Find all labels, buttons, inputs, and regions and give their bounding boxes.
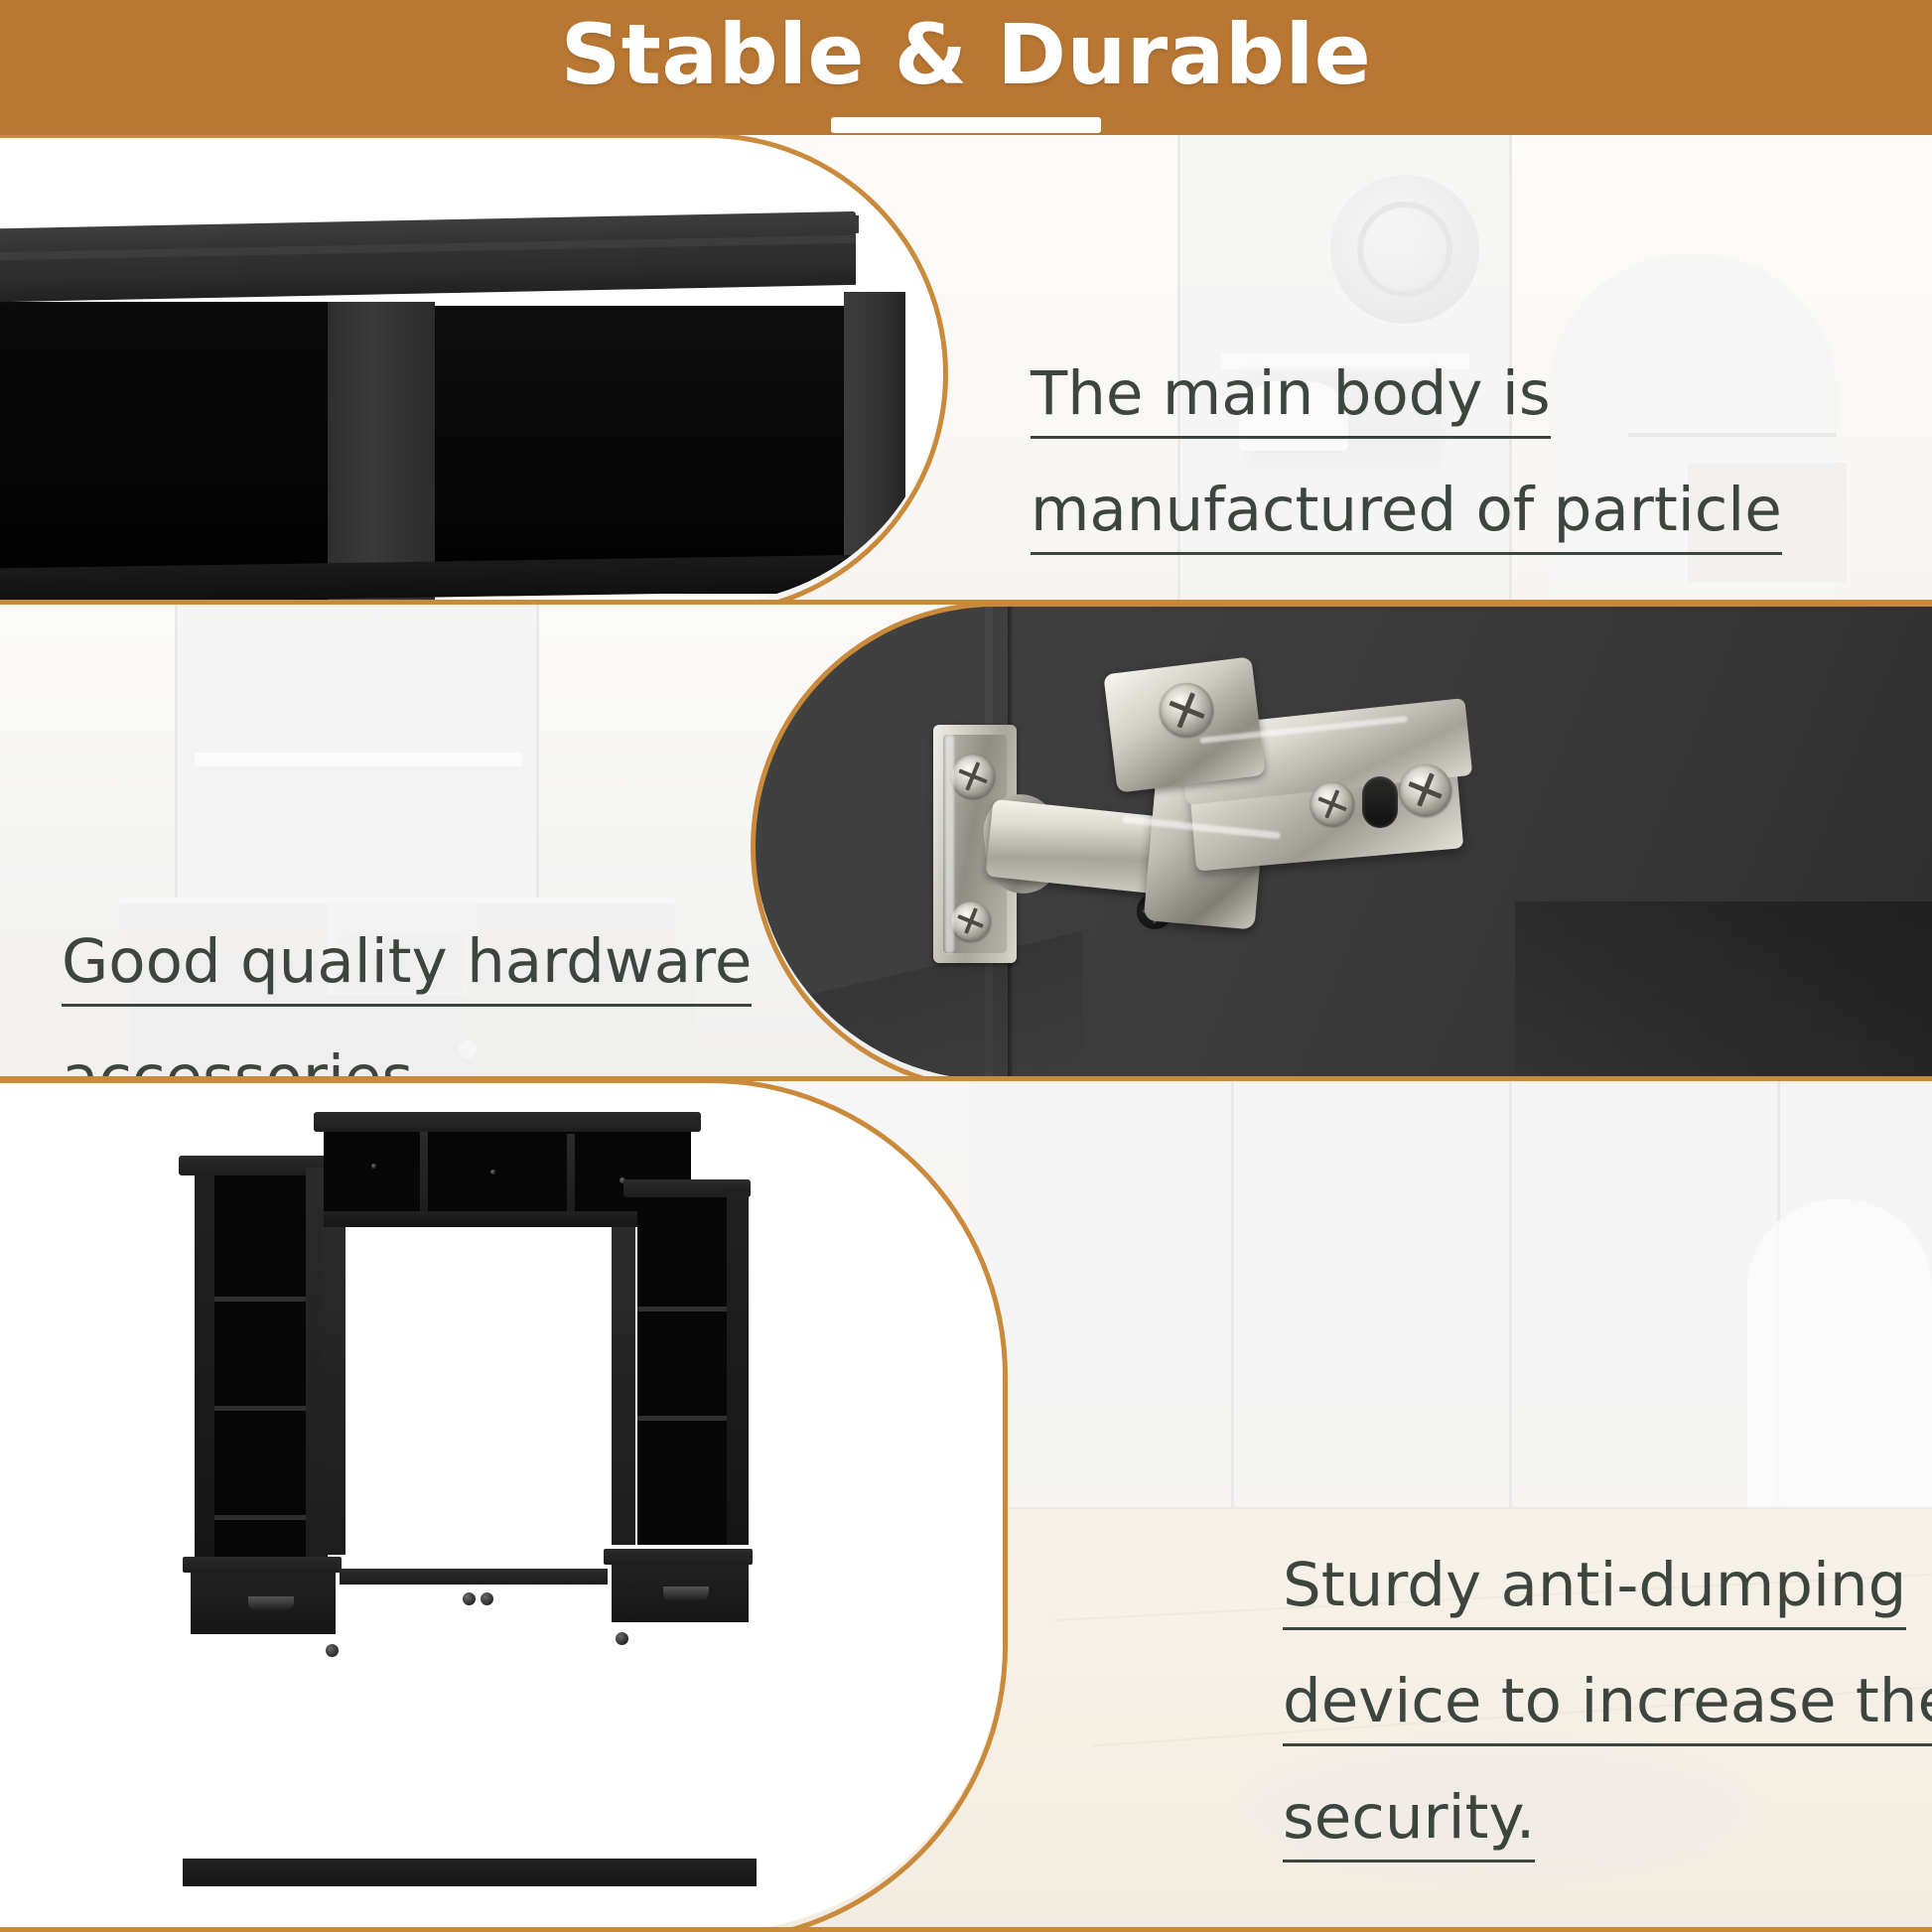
hutch-cavity (324, 1132, 691, 1211)
door-knob-3 (481, 1592, 493, 1605)
base-plinth (183, 1859, 757, 1886)
title-underline-bar (831, 117, 1101, 133)
page-title: Stable & Durable (0, 6, 1932, 103)
hinge-screw-body-left (1311, 782, 1354, 826)
feature-3-line-1: Sturdy anti-dumping (1283, 1555, 1906, 1630)
hinge-screw-body-right (1400, 764, 1451, 816)
band-separator-1 (0, 600, 1932, 605)
hutch-top-cap (314, 1112, 701, 1132)
center-right-post (612, 1227, 635, 1545)
shelf-divider-post (328, 302, 435, 600)
left-tower-cavity (214, 1175, 306, 1563)
feature-3-line-3: security. (1283, 1787, 1535, 1863)
hinge-screw-plate-top (951, 755, 995, 798)
hinge-screw-plate-bottom (951, 901, 991, 941)
hutch-divider-2 (567, 1134, 575, 1211)
cabinet-door-4 (610, 1624, 749, 1851)
feature-band-particle-board: The main body is manufactured of particl… (0, 135, 1932, 604)
hinge-screw-mount (1160, 683, 1213, 737)
product-photo-entertainment-center (0, 1080, 1003, 1932)
door-corner-shadow (1515, 901, 1932, 1080)
page-header: Stable & Durable (0, 0, 1932, 135)
entertainment-center-illustration (175, 1108, 770, 1912)
right-drawer-pull (663, 1587, 709, 1601)
feature-3-line-2: device to increase the (1283, 1671, 1932, 1746)
left-drawer-top (183, 1557, 342, 1573)
infographic-page: Stable & Durable (0, 0, 1932, 1932)
hinge-adjust-slot (1362, 776, 1398, 828)
shelf-cavity-left (0, 302, 328, 600)
door-knob-2 (463, 1592, 476, 1605)
shelf-illustration (0, 135, 943, 604)
door-knob-1 (326, 1644, 339, 1657)
feature-band-anti-dumping: Sturdy anti-dumping device to increase t… (0, 1080, 1932, 1932)
cabinet-door-surface (755, 604, 1932, 1080)
concealed-hinge-icon (933, 665, 1489, 1003)
feature-2-line-1: Good quality hardware (62, 931, 752, 1007)
shelf-cavity-right (432, 306, 859, 594)
right-tower-cavity (637, 1197, 727, 1545)
left-drawer-pull (248, 1596, 294, 1611)
left-tower-side (195, 1166, 214, 1563)
door-knob-4 (616, 1632, 628, 1645)
feature-text-hardware: Good quality hardware accessories. (62, 931, 752, 1080)
shelf-right-post (844, 292, 905, 590)
feature-text-particle-board: The main body is manufactured of particl… (1031, 363, 1782, 604)
feature-1-line-1: The main body is (1031, 363, 1551, 439)
cabinet-door-2 (340, 1585, 475, 1859)
cabinet-door-3 (476, 1583, 609, 1855)
center-left-post (324, 1227, 345, 1555)
band-separator-2 (0, 1076, 1932, 1081)
feature-text-anti-dumping: Sturdy anti-dumping device to increase t… (1283, 1555, 1932, 1903)
feature-band-hardware: Good quality hardware accessories. (0, 604, 1932, 1080)
product-photo-shelf-top (0, 135, 943, 604)
product-photo-hinge (755, 604, 1932, 1080)
feature-1-line-2: manufactured of particle (1031, 480, 1782, 555)
right-drawer-top (604, 1549, 753, 1565)
hutch-grommet-2 (490, 1170, 495, 1174)
hutch-divider-1 (420, 1132, 428, 1211)
hutch-grommet-1 (371, 1164, 376, 1169)
right-tower-side (727, 1187, 749, 1545)
band-separator-3 (0, 1927, 1932, 1932)
cabinet-door-1 (191, 1636, 338, 1863)
